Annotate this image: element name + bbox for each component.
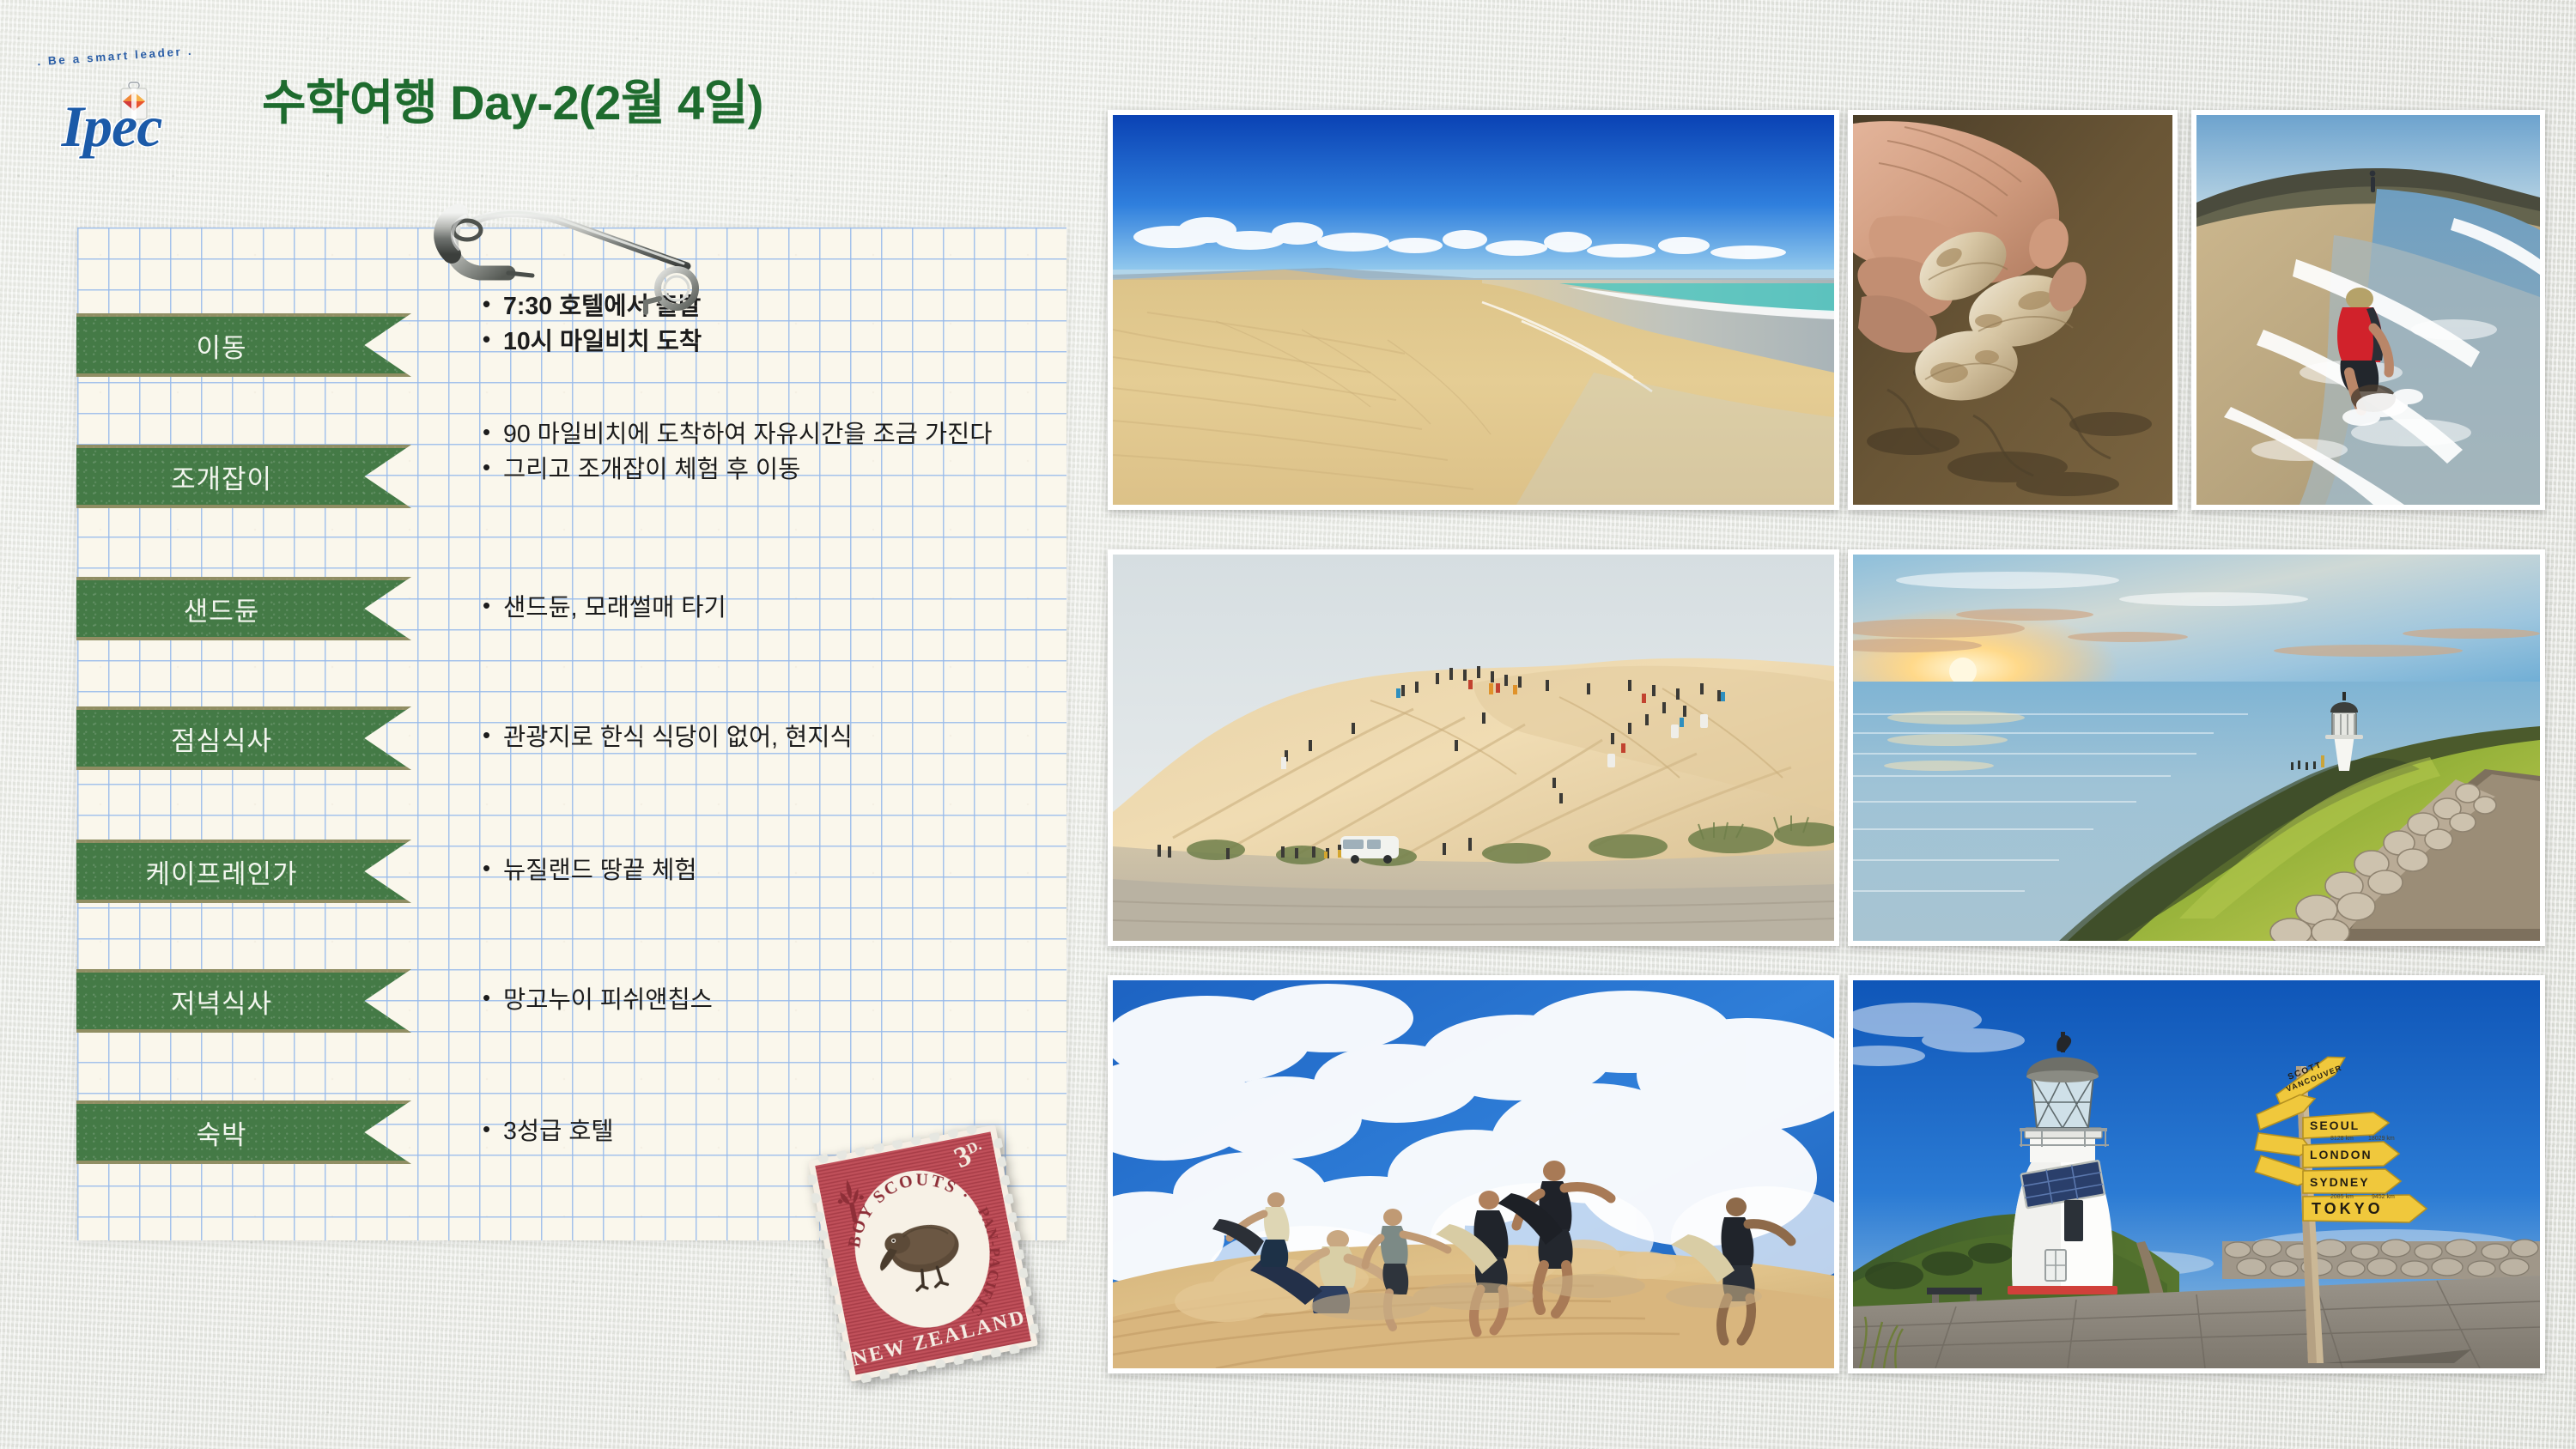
schedule-banner-label: 샌드듄 — [184, 590, 260, 628]
banner-edge-top — [76, 577, 411, 580]
banner-edge-top — [76, 706, 411, 710]
grid-paper-notepad: 이동 7:30 호텔에서 출발 10시 마일비치 도착 조개잡이 90 마일비치… — [77, 227, 1066, 1240]
banner-edge-bottom — [76, 1161, 411, 1164]
schedule-banner-label: 점심식사 — [171, 719, 272, 758]
schedule-banner-1[interactable]: 조개잡이 — [76, 445, 411, 508]
svg-text:SYDNEY: SYDNEY — [2310, 1175, 2370, 1189]
schedule-banner-0[interactable]: 이동 — [76, 313, 411, 377]
schedule-bullets-3: 관광지로 한식 식당이 없어, 현지식 — [481, 720, 1048, 755]
svg-text:18029 km: 18029 km — [2368, 1136, 2395, 1142]
schedule-banner-5[interactable]: 저녁식사 — [76, 969, 411, 1033]
banner-edge-bottom — [76, 1029, 411, 1033]
schedule-banner-label: 저녁식사 — [171, 982, 272, 1021]
photo-cape-reinga-sunset[interactable] — [1848, 549, 2545, 946]
photo-image — [1113, 115, 1834, 505]
banner-edge-top — [76, 840, 411, 843]
svg-text:8128 km: 8128 km — [2330, 1136, 2354, 1142]
photo-cape-reinga-signpost[interactable]: SEOUL LONDON SYDNEY TOKYO SCOTT VANCOUVE… — [1848, 975, 2545, 1373]
schedule-banner-4[interactable]: 케이프레인가 — [76, 840, 411, 903]
schedule-banner-label: 조개잡이 — [171, 458, 272, 496]
svg-text:9452 km: 9452 km — [2372, 1194, 2395, 1200]
schedule-banner-2[interactable]: 샌드듄 — [76, 577, 411, 640]
list-item: 그리고 조개잡이 체험 후 이동 — [481, 452, 1048, 488]
photo-ninety-mile-beach[interactable] — [1108, 110, 1839, 510]
svg-text:2085 km: 2085 km — [2330, 1194, 2354, 1200]
banner-edge-top — [76, 969, 411, 973]
list-item: 샌드듄, 모래썰매 타기 — [481, 591, 1048, 626]
photo-sandboarding-run[interactable] — [1108, 975, 1839, 1373]
svg-text:SEOUL: SEOUL — [2310, 1119, 2360, 1132]
svg-text:LONDON: LONDON — [2310, 1148, 2372, 1161]
schedule-banner-label: 숙박 — [196, 1113, 246, 1152]
page-title: 수학여행 Day-2(2월 4일) — [262, 64, 763, 134]
svg-text:TOKYO: TOKYO — [2312, 1200, 2384, 1217]
list-item: 망고누이 피쉬앤칩스 — [481, 983, 1048, 1018]
list-item: 뉴질랜드 땅끝 체험 — [481, 853, 1048, 888]
photo-image — [1113, 980, 1834, 1368]
ipec-logo: . Be a smart leader . Ipec — [26, 41, 197, 161]
banner-edge-bottom — [76, 900, 411, 903]
list-item: 관광지로 한식 식당이 없어, 현지식 — [481, 720, 1048, 755]
banner-edge-bottom — [76, 637, 411, 640]
banner-edge-top — [76, 1100, 411, 1104]
photo-image: SEOUL LONDON SYDNEY TOKYO SCOTT VANCOUVE… — [1853, 980, 2540, 1368]
photo-clams-in-hand[interactable] — [1848, 110, 2178, 510]
list-item: 90 마일비치에 도착하여 자유시간을 조금 가진다 — [481, 417, 1048, 452]
photo-image — [2196, 115, 2540, 505]
schedule-banner-label: 케이프레인가 — [145, 852, 297, 891]
banner-edge-bottom — [76, 505, 411, 508]
photo-image — [1853, 115, 2172, 505]
banner-edge-top — [76, 313, 411, 317]
schedule-bullets-5: 망고누이 피쉬앤칩스 — [481, 983, 1048, 1018]
banner-edge-bottom — [76, 373, 411, 377]
schedule-bullets-1: 90 마일비치에 도착하여 자유시간을 조금 가진다 그리고 조개잡이 체험 후… — [481, 417, 1048, 488]
schedule-bullets-4: 뉴질랜드 땅끝 체험 — [481, 853, 1048, 888]
photo-sand-dune-climb[interactable] — [1108, 549, 1839, 946]
photo-boy-digging-surf[interactable] — [2191, 110, 2545, 510]
photo-image — [1113, 555, 1834, 941]
banner-edge-bottom — [76, 767, 411, 770]
logo-wordmark: Ipec — [26, 93, 197, 161]
banner-edge-top — [76, 445, 411, 448]
schedule-banner-6[interactable]: 숙박 — [76, 1100, 411, 1164]
photo-image — [1853, 555, 2540, 941]
schedule-banner-3[interactable]: 점심식사 — [76, 706, 411, 770]
schedule-banner-label: 이동 — [196, 326, 246, 365]
safety-pin-icon — [429, 187, 721, 337]
schedule-bullets-2: 샌드듄, 모래썰매 타기 — [481, 591, 1048, 626]
